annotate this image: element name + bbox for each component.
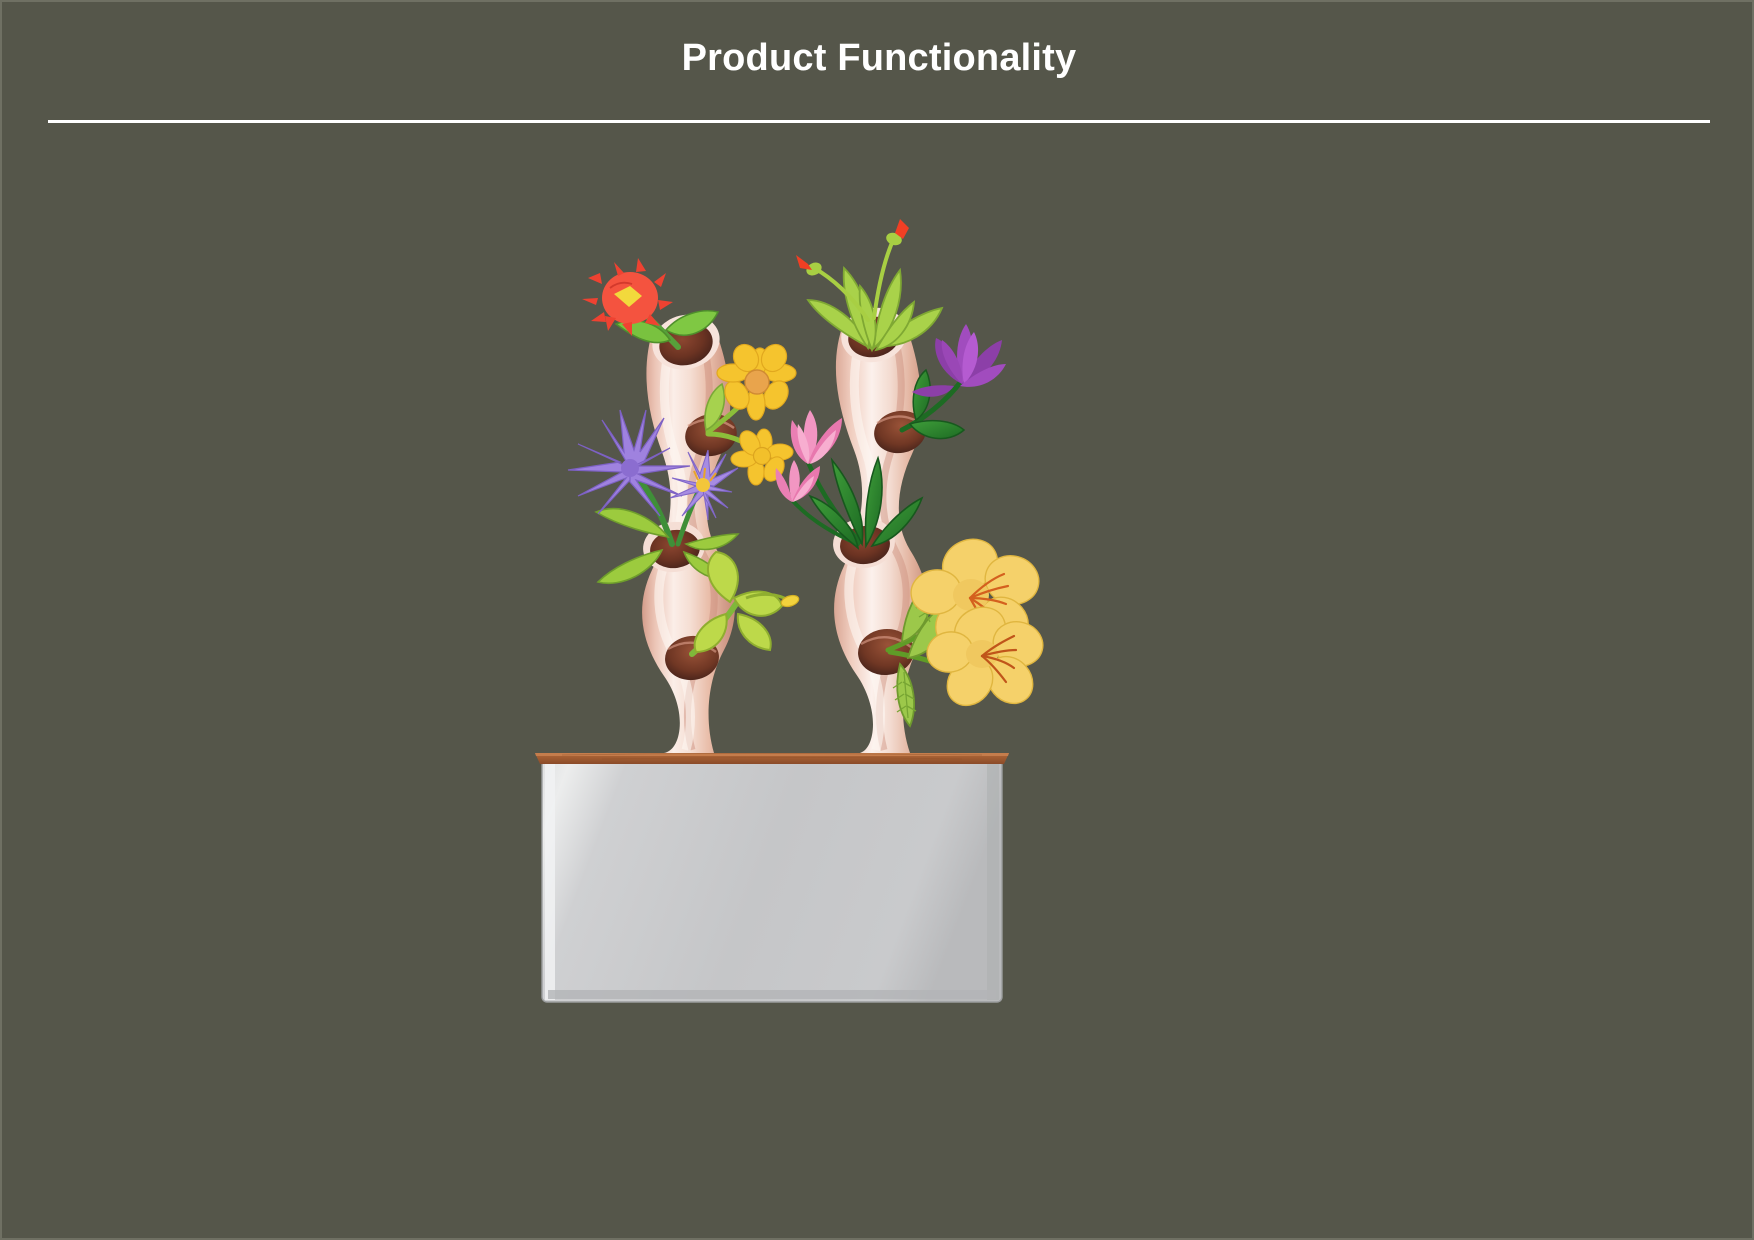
aster-center-large — [621, 459, 639, 477]
daisy-center-small — [754, 448, 771, 465]
page-title: Product Functionality — [2, 38, 1754, 80]
wooden-worktop — [535, 753, 1009, 764]
product-illustration — [2, 152, 1754, 1240]
cabinet-base — [535, 753, 1009, 1002]
aloe-bud-b — [884, 219, 909, 247]
plant-purple-lotus — [902, 324, 1006, 439]
title-divider — [48, 120, 1710, 123]
aloe-bud-a — [796, 255, 824, 278]
cabinet-body — [542, 760, 1002, 1002]
slide-canvas: Product Functionality — [0, 0, 1754, 1240]
aster-center-small — [696, 478, 710, 492]
tulip-bloom-upper — [791, 410, 842, 464]
cabinet-bottom-shade — [548, 990, 996, 999]
daisy-bloom-small — [731, 427, 793, 485]
plant-aloe-red-buds — [796, 219, 942, 350]
cabinet-left-highlight — [545, 762, 555, 1000]
daisy-center-large — [745, 370, 769, 394]
planter-illustration-svg — [2, 152, 1754, 1240]
cabinet-right-shade — [987, 762, 999, 1000]
